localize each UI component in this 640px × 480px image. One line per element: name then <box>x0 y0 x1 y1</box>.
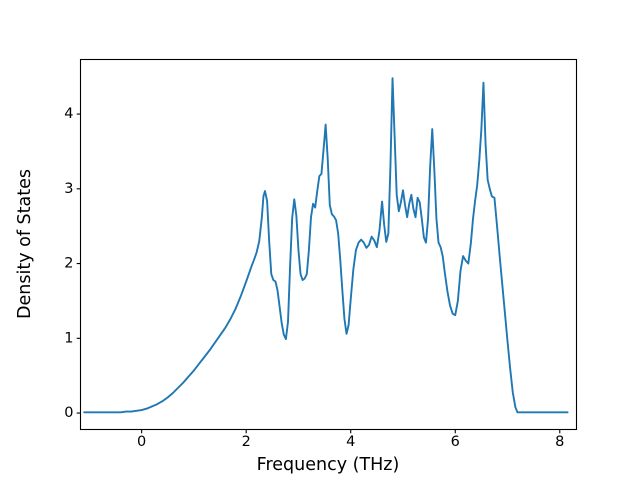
x-tick-label: 6 <box>451 434 460 450</box>
y-tick-label: 2 <box>64 256 73 272</box>
y-axis-ticks: 01234 <box>64 106 80 421</box>
y-axis-title: Density of States <box>15 169 35 319</box>
figure-canvas: 02468 01234 Frequency (THz) Density of S… <box>0 0 640 480</box>
x-axis-ticks: 02468 <box>137 430 564 451</box>
density-of-states-chart: 02468 01234 Frequency (THz) Density of S… <box>0 0 640 480</box>
dos-line-series <box>84 78 567 412</box>
x-tick-label: 2 <box>242 434 251 450</box>
y-tick-label: 1 <box>64 330 73 346</box>
x-axis-title: Frequency (THz) <box>257 455 400 475</box>
y-tick-label: 4 <box>64 106 73 122</box>
x-tick-label: 4 <box>346 434 355 450</box>
x-tick-label: 0 <box>137 434 146 450</box>
y-tick-label: 0 <box>64 405 73 421</box>
y-tick-label: 3 <box>64 181 73 197</box>
x-tick-label: 8 <box>555 434 564 450</box>
axes-frame <box>81 60 577 430</box>
